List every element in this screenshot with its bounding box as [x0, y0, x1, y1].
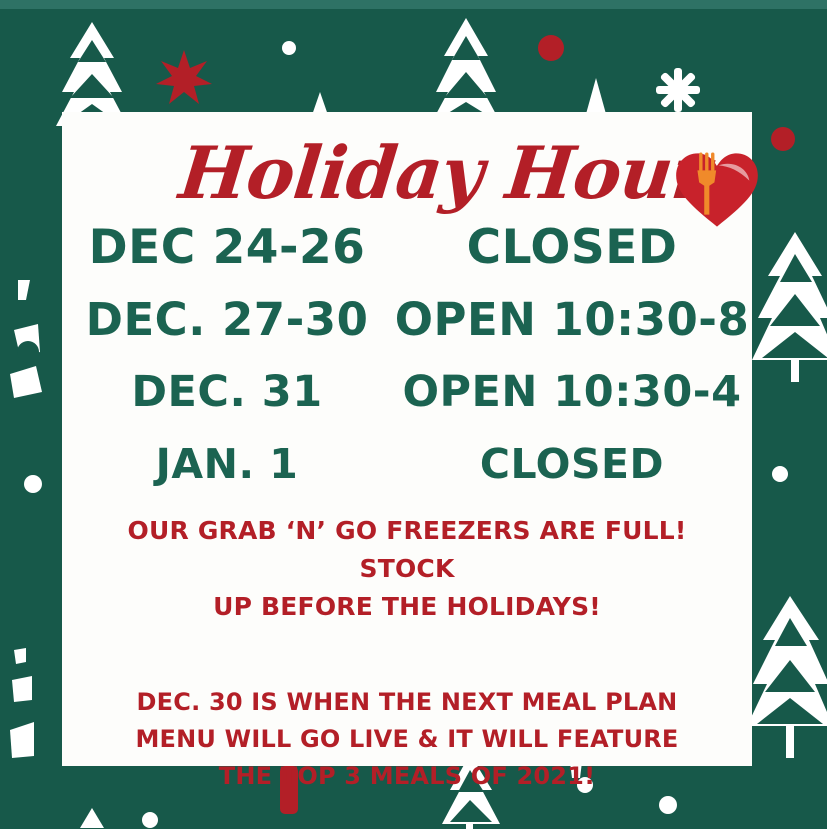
table-row: DEC 24-26 CLOSED — [62, 220, 752, 292]
dot-icon — [142, 812, 158, 828]
pine-tree-icon — [586, 78, 606, 114]
star-burst-icon — [156, 50, 212, 104]
triangle-icon — [80, 808, 104, 828]
dot-icon — [538, 35, 564, 61]
hours-status: OPEN 10:30-4 — [392, 364, 752, 420]
notes-section: OUR GRAB ‘N’ GO FREEZERS ARE FULL! STOCK… — [90, 512, 724, 795]
hours-day: JAN. 1 — [62, 436, 392, 492]
pine-tree-icon — [747, 596, 827, 758]
table-row: DEC. 27-30 OPEN 10:30-8 — [62, 292, 752, 364]
dot-icon — [772, 466, 788, 482]
table-row: DEC. 31 OPEN 10:30-4 — [62, 364, 752, 436]
hours-status: CLOSED — [392, 436, 752, 492]
snowflake-icon — [17, 341, 39, 363]
pine-tree-icon — [10, 648, 34, 758]
snowflake-icon — [656, 68, 700, 112]
title-row: Holiday Hours — [62, 126, 752, 222]
page-title: Holiday Hours — [175, 130, 664, 216]
hours-table: DEC 24-26 CLOSED DEC. 27-30 OPEN 10:30-8… — [62, 220, 752, 508]
freezer-note: OUR GRAB ‘N’ GO FREEZERS ARE FULL! STOCK… — [90, 512, 724, 626]
content-card: Holiday Hours DEC 24-26 CLOSED DEC. 27-3… — [62, 112, 752, 766]
holiday-hours-poster: Holiday Hours DEC 24-26 CLOSED DEC. 27-3… — [0, 0, 827, 829]
dot-icon — [771, 127, 795, 151]
hours-day: DEC. 27-30 — [62, 292, 392, 348]
dot-icon — [282, 41, 296, 55]
heart-with-fork-icon — [674, 150, 760, 230]
snowflake-icon — [10, 280, 42, 398]
pine-tree-icon — [762, 254, 827, 358]
hours-status: OPEN 10:30-8 — [392, 292, 752, 348]
hours-day: DEC 24-26 — [62, 220, 392, 276]
pine-tree-icon — [752, 232, 827, 382]
hours-day: DEC. 31 — [62, 364, 392, 420]
dot-icon — [24, 475, 42, 493]
table-row: JAN. 1 CLOSED — [62, 436, 752, 508]
meal-plan-note: DEC. 30 IS WHEN THE NEXT MEAL PLAN MENU … — [90, 684, 724, 795]
top-accent-strip — [0, 0, 827, 9]
hours-status: CLOSED — [392, 220, 752, 276]
pine-tree-icon — [440, 36, 492, 118]
dot-icon — [659, 796, 677, 814]
pine-tree-icon — [757, 618, 823, 724]
